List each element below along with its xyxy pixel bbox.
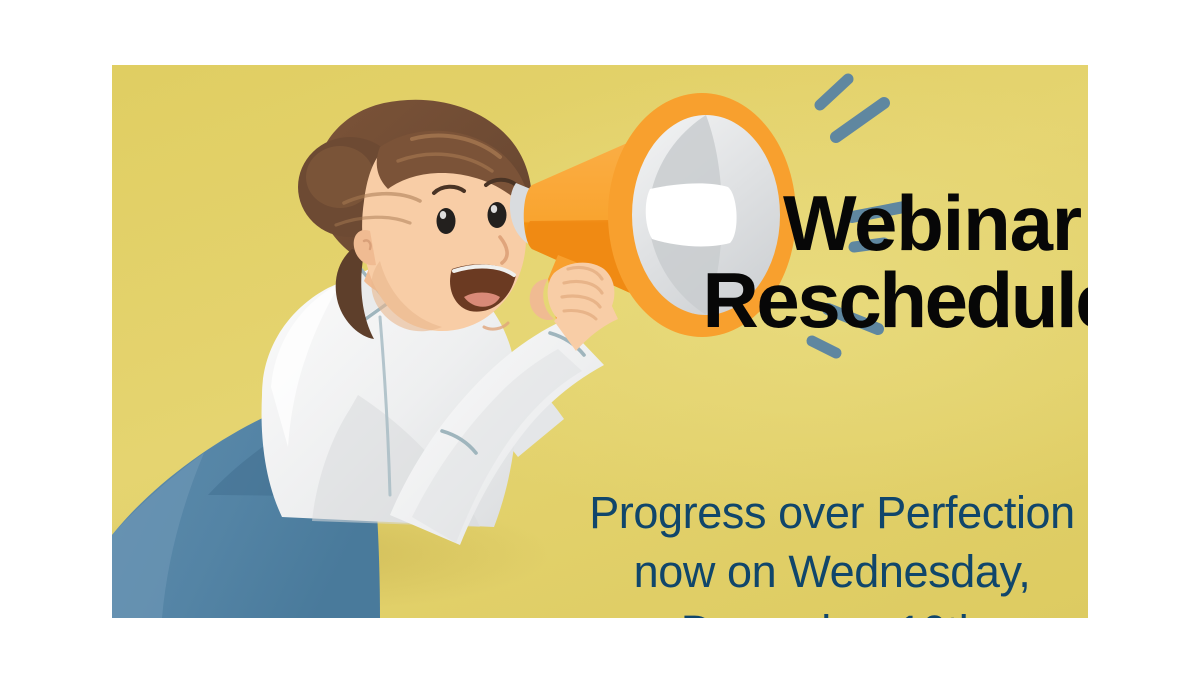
subtitle-line-3: December 10th [472,602,1088,618]
subtitle: Progress over Perfection now on Wednesda… [472,483,1088,618]
eye-left-glint [440,211,446,219]
subtitle-line-2: now on Wednesday, [472,542,1088,601]
hair-bun-highlight [306,146,374,208]
page-title: Webinar Rescheduled [632,185,1088,339]
subtitle-line-1: Progress over Perfection [472,483,1088,542]
eye-left [437,208,456,234]
yellow-content-panel: Webinar Rescheduled Progress over Perfec… [112,65,1088,618]
headline-line-1: Webinar [632,185,1088,262]
soundwave-dash-2 [836,103,884,137]
headline-line-2: Rescheduled [632,262,1088,339]
eye-right-glint [491,205,497,213]
slide-canvas: Webinar Rescheduled Progress over Perfec… [0,0,1200,685]
soundwave-dash-1 [820,79,848,105]
eye-right [488,202,507,228]
